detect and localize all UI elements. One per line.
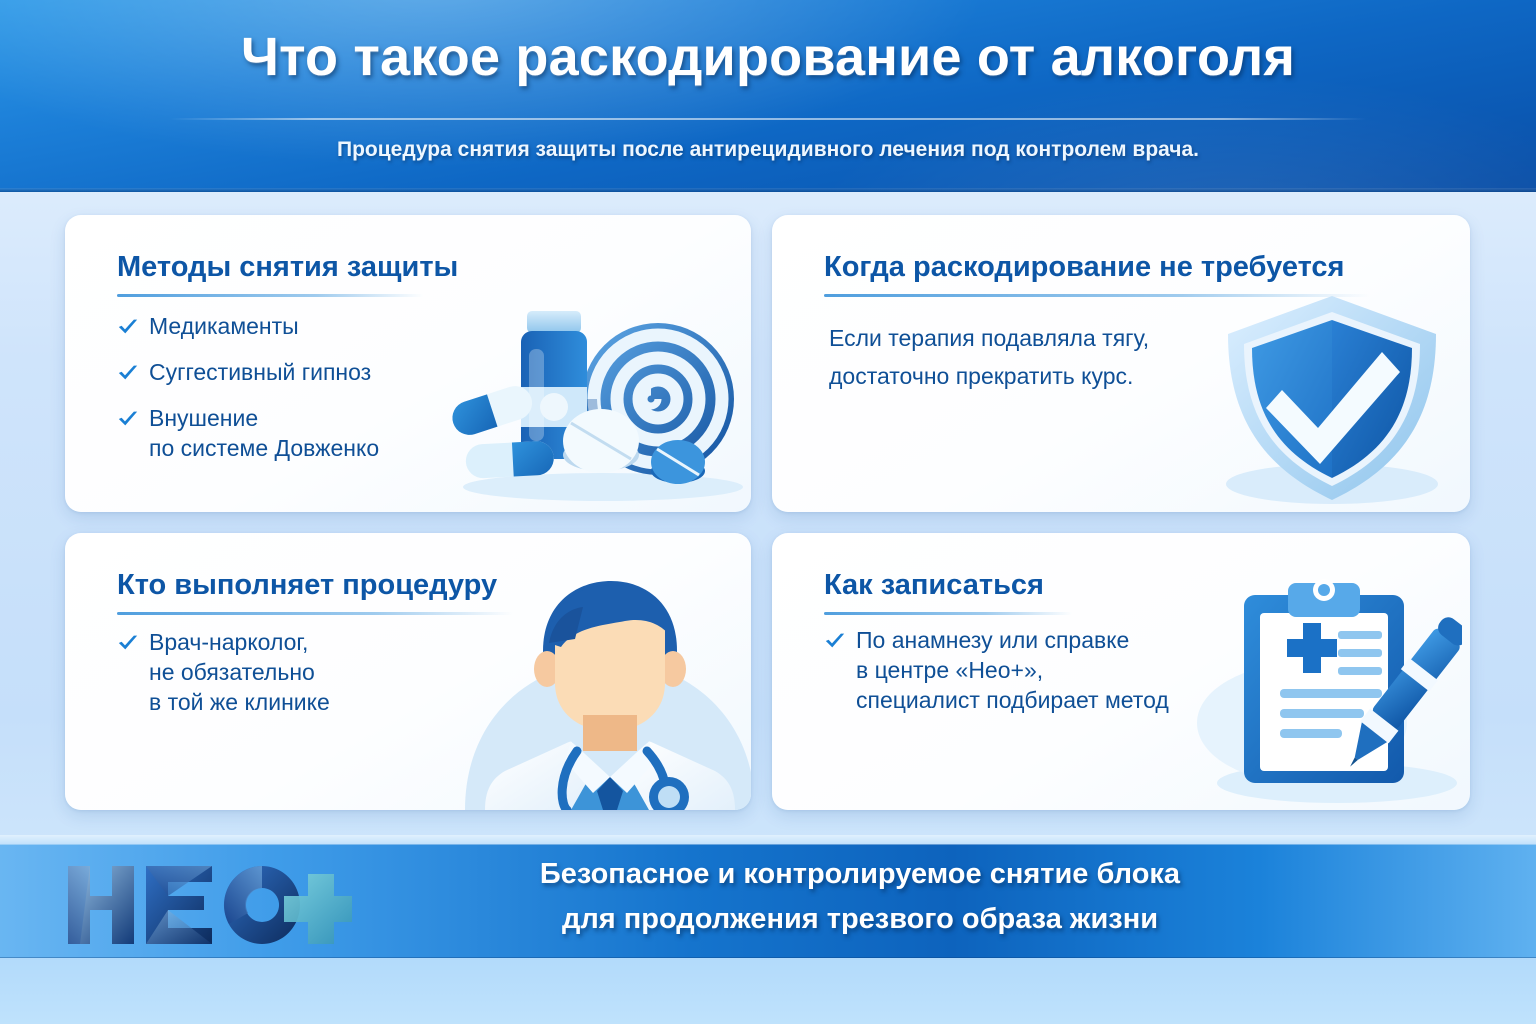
list-item-label: Медикаменты xyxy=(149,311,299,341)
list-item: Медикаменты xyxy=(117,311,379,341)
bullet-list: Врач-нарколог, не обязательно в той же к… xyxy=(117,627,330,733)
pills-bottle-spiral-icon xyxy=(443,291,743,506)
list-item-label: Суггестивный гипноз xyxy=(149,357,371,387)
card-who-performs: Кто выполняет процедуру Врач-нарколог, н… xyxy=(65,533,751,810)
bullet-list: Медикаменты Суггестивный гипноз Внушение… xyxy=(117,311,379,479)
footer-tagline: Безопасное и контролируемое снятие блока… xyxy=(360,852,1360,942)
card-heading-underline xyxy=(824,612,1072,615)
list-item-label: Врач-нарколог, не обязательно в той же к… xyxy=(149,627,330,717)
check-icon xyxy=(824,629,846,653)
card-heading-underline xyxy=(117,294,423,297)
card-heading: Методы снятия защиты xyxy=(117,251,458,284)
header-banner: Что такое раскодирование от алкоголя Про… xyxy=(0,0,1536,192)
neo-plus-logo xyxy=(62,858,352,950)
list-item: Врач-нарколог, не обязательно в той же к… xyxy=(117,627,330,717)
card-methods: Методы снятия защиты Медикаменты Суггест… xyxy=(65,215,751,512)
card-when-not-needed: Когда раскодирование не требуется Если т… xyxy=(772,215,1470,512)
card-heading: Когда раскодирование не требуется xyxy=(824,251,1344,284)
title-divider xyxy=(170,118,1366,120)
shield-check-icon xyxy=(1214,286,1450,512)
check-icon xyxy=(117,407,139,431)
clipboard-pen-icon xyxy=(1192,573,1462,808)
list-item: Суггестивный гипноз xyxy=(117,357,379,387)
doctor-icon xyxy=(425,565,751,810)
card-heading: Как записаться xyxy=(824,569,1044,602)
check-icon xyxy=(117,315,139,339)
card-how-to-book: Как записаться По анамнезу или справке в… xyxy=(772,533,1470,810)
page-title: Что такое раскодирование от алкоголя xyxy=(0,26,1536,88)
check-icon xyxy=(117,361,139,385)
check-icon xyxy=(117,631,139,655)
list-item-label: Внушение по системе Довженко xyxy=(149,403,379,463)
infographic-poster: Что такое раскодирование от алкоголя Про… xyxy=(0,0,1536,1024)
bullet-list: По анамнезу или справке в центре «Нео+»,… xyxy=(824,625,1169,731)
list-item: Внушение по системе Довженко xyxy=(117,403,379,463)
list-item: По анамнезу или справке в центре «Нео+»,… xyxy=(824,625,1169,715)
card-paragraph: Если терапия подавляла тягу, достаточно … xyxy=(829,319,1149,395)
list-item-label: По анамнезу или справке в центре «Нео+»,… xyxy=(856,625,1169,715)
page-subtitle: Процедура снятия защиты после антирециди… xyxy=(0,138,1536,162)
